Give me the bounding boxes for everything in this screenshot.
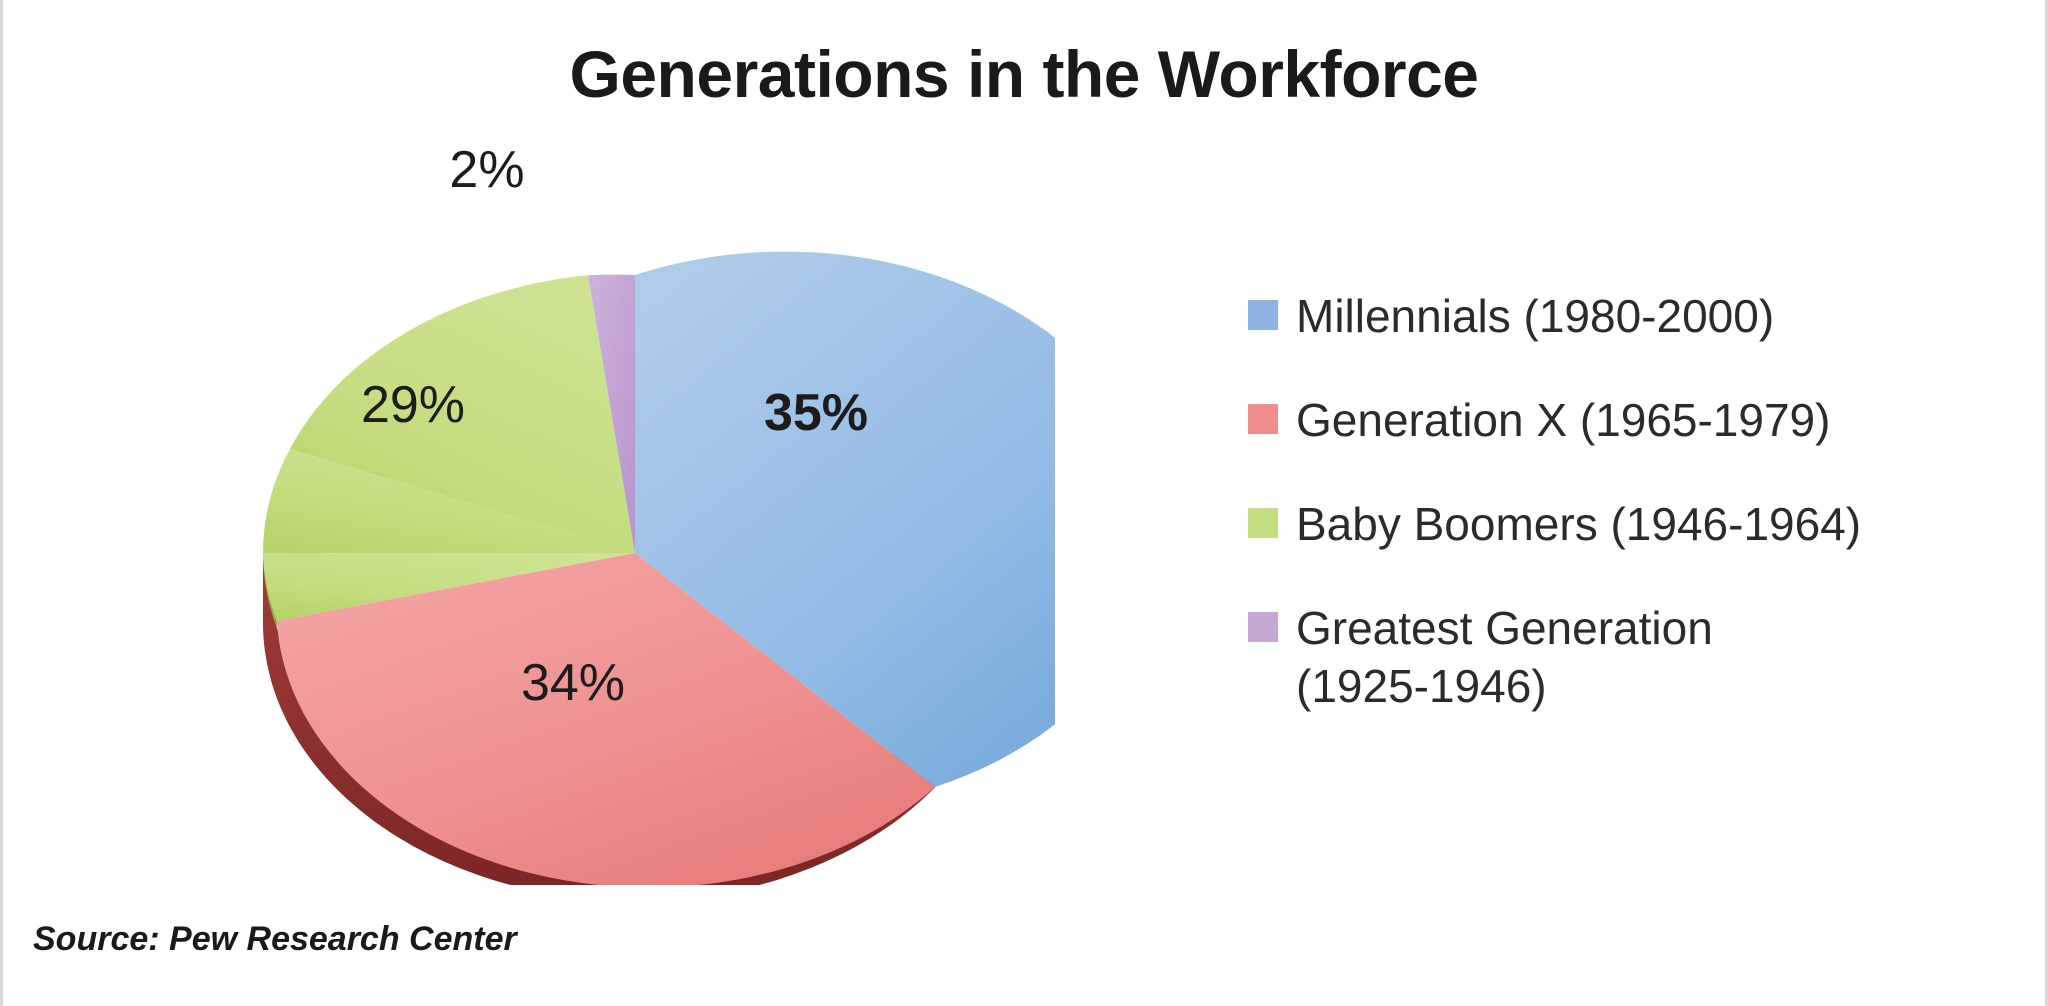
pie-chart-svg (215, 185, 1055, 885)
legend-item-label: Generation X (1965-1979) (1296, 392, 1830, 450)
slice-label-generation-x: 34% (483, 653, 663, 713)
slide-left-rule (0, 0, 3, 1006)
legend-swatch-icon (1248, 404, 1278, 434)
legend-item-millennials[interactable]: Millennials (1980-2000) (1248, 288, 2018, 346)
legend-item-label: Baby Boomers (1946-1964) (1296, 496, 1861, 554)
source-attribution: Source: Pew Research Center (33, 920, 517, 959)
legend-item-generation-x[interactable]: Generation X (1965-1979) (1248, 392, 2018, 450)
page-title: Generations in the Workforce (0, 36, 2048, 112)
legend-swatch-icon (1248, 508, 1278, 538)
slice-label-millennials: 35% (731, 383, 901, 443)
legend-swatch-icon (1248, 300, 1278, 330)
slice-label-greatest-generation: 2% (407, 140, 567, 200)
slice-label-baby-boomers: 29% (323, 375, 503, 435)
legend-item-label: Millennials (1980-2000) (1296, 288, 1774, 346)
legend-swatch-icon (1248, 612, 1278, 642)
legend-item-baby-boomers[interactable]: Baby Boomers (1946-1964) (1248, 496, 2018, 554)
pie-chart: 2% 35% 29% 34% (215, 185, 1055, 885)
legend-item-label: Greatest Generation (1925-1946) (1296, 600, 1713, 716)
chart-legend: Millennials (1980-2000) Generation X (19… (1248, 288, 2018, 762)
slide-canvas: Generations in the Workforce (0, 0, 2048, 1006)
legend-item-greatest-generation[interactable]: Greatest Generation (1925-1946) (1248, 600, 2018, 716)
